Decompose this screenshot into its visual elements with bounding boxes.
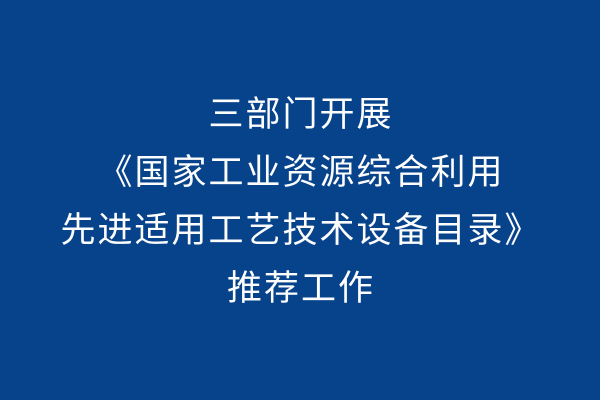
headline-line-4: 推荐工作 [0,260,600,318]
poster-canvas: 三部门开展 《国家工业资源综合利用 先进适用工艺技术设备目录》 推荐工作 [0,0,600,400]
headline-line-2: 《国家工业资源综合利用 [0,144,600,202]
headline-block: 三部门开展 《国家工业资源综合利用 先进适用工艺技术设备目录》 推荐工作 [0,0,600,318]
headline-line-1: 三部门开展 [0,86,600,144]
headline-line-3: 先进适用工艺技术设备目录》 [0,202,600,260]
